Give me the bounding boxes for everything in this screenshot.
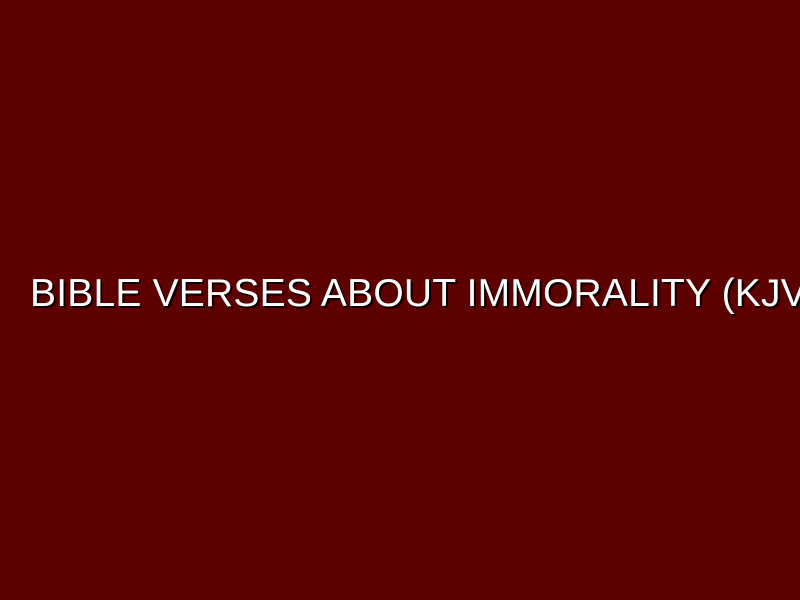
featured-image-card: Bible Verses About Immorality (KJV) xyxy=(0,0,800,600)
title-block: Bible Verses About Immorality (KJV) xyxy=(0,273,800,315)
page-title: Bible Verses About Immorality (KJV) xyxy=(30,273,800,315)
